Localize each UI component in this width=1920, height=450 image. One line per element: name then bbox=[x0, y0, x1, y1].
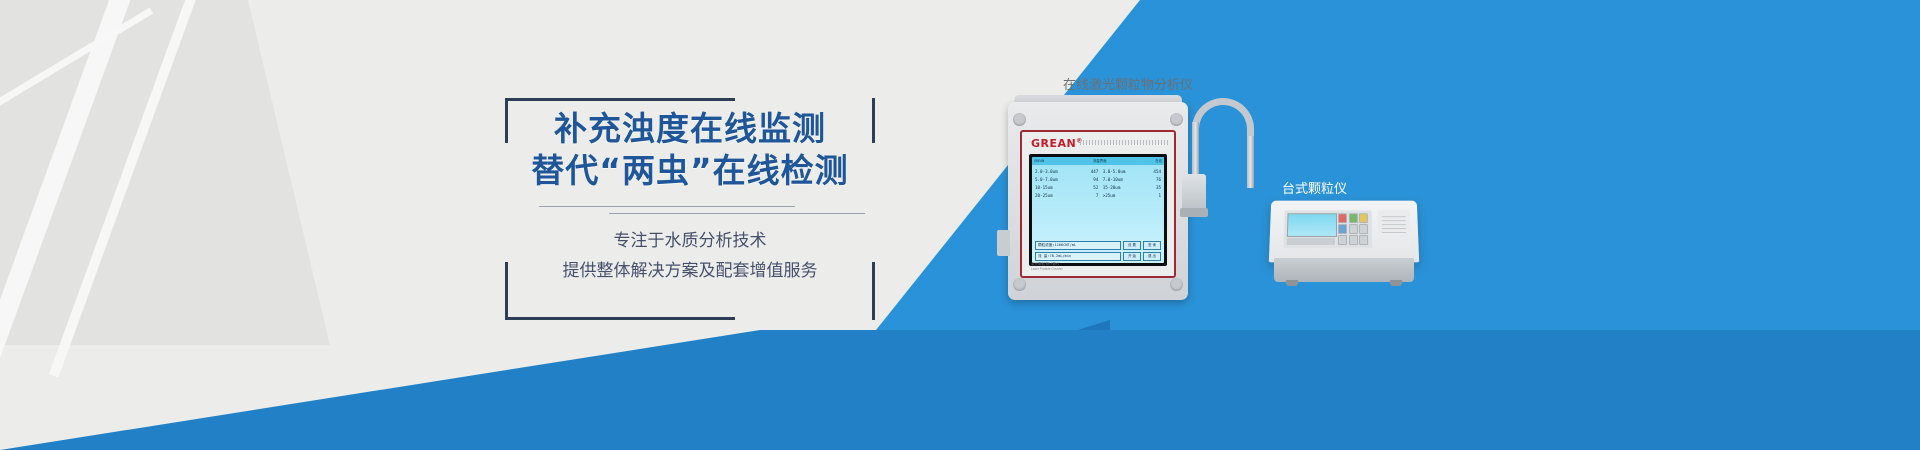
table-row: 2.0-3.0um 447 3.0-5.0um 454 bbox=[1035, 168, 1161, 176]
concentration-readout: 颗粒浓度:1166CNT/mL bbox=[1035, 241, 1121, 250]
benchtop-display bbox=[1287, 213, 1337, 237]
panel-hatch-decoration bbox=[1080, 140, 1168, 145]
exit-button[interactable]: 退 出 bbox=[1143, 252, 1161, 261]
keypad-key[interactable] bbox=[1359, 224, 1368, 234]
range-2: 3.0-5.0um bbox=[1099, 168, 1143, 176]
subtitle-line-2: 提供整体解决方案及配套增值服务 bbox=[505, 256, 875, 286]
divider-group bbox=[539, 206, 865, 220]
benchtop-vent bbox=[1382, 216, 1406, 236]
count-2: 1 bbox=[1143, 192, 1161, 200]
query-button[interactable]: 查 询 bbox=[1143, 241, 1161, 250]
brand-name: GREAN bbox=[1031, 137, 1076, 150]
headline-line-1: 补充浊度在线监测 bbox=[505, 108, 875, 150]
bracket-bottom-line bbox=[505, 317, 735, 320]
range-2: 15-20um bbox=[1099, 184, 1143, 192]
analyzer-hinge bbox=[1170, 278, 1183, 291]
analyzer-display-bezel: GREAN 测量界面 在线 2.0-3.0um 447 3.0-5.0um 45… bbox=[1029, 154, 1167, 266]
count-2: 76 bbox=[1143, 176, 1161, 184]
label-benchtop-counter: 台式颗粒仪 bbox=[1282, 178, 1347, 197]
display-title-center: 测量界面 bbox=[1093, 157, 1107, 165]
headline: 补充浊度在线监测 替代“两虫”在线检测 bbox=[505, 108, 875, 192]
count-2: 454 bbox=[1143, 168, 1161, 176]
benchtop-vent-panel bbox=[1378, 210, 1411, 248]
range-1: 5.0-7.0um bbox=[1035, 176, 1078, 184]
flow-readout: 流 量:78.2mL/min bbox=[1035, 252, 1121, 261]
display-footer: 颗粒浓度:1166CNT/mL 设 置 查 询 流 量:78.2mL/min 开… bbox=[1035, 239, 1161, 261]
bracket-top-line bbox=[505, 98, 735, 101]
tube-segment-right bbox=[1247, 136, 1254, 188]
product-online-analyzer: GREAN® GREAN 测量界面 在线 2.0-3.0um 447 3.0-5… bbox=[1008, 102, 1188, 300]
benchtop-foot bbox=[1390, 280, 1402, 286]
headline-block: 补充浊度在线监测 替代“两虫”在线检测 专注于水质分析技术 提供整体解决方案及配… bbox=[505, 98, 875, 320]
display-data-table: 2.0-3.0um 447 3.0-5.0um 454 5.0-7.0um 94… bbox=[1032, 165, 1164, 200]
range-2: >25um bbox=[1099, 192, 1143, 200]
count-1: 7 bbox=[1078, 192, 1098, 200]
headline-line-2: 替代“两虫”在线检测 bbox=[505, 150, 875, 192]
tube-arc bbox=[1192, 98, 1254, 144]
table-row: 10-15um 52 15-20um 35 bbox=[1035, 184, 1161, 192]
keypad-key[interactable] bbox=[1348, 213, 1357, 222]
benchtop-keypad[interactable] bbox=[1338, 213, 1368, 245]
benchtop-foot bbox=[1286, 280, 1298, 286]
display-title-right: 在线 bbox=[1155, 157, 1162, 165]
divider-line-upper bbox=[539, 206, 795, 207]
analyzer-hinge bbox=[1170, 113, 1183, 126]
count-1: 447 bbox=[1078, 168, 1098, 176]
table-row: 5.0-7.0um 94 7.0-10um 76 bbox=[1035, 176, 1161, 184]
range-1: 10-15um bbox=[1035, 184, 1078, 192]
footer-english: Laser Particle Counter bbox=[1031, 267, 1063, 272]
analyzer-hinge bbox=[1013, 113, 1026, 126]
analyzer-display: GREAN 测量界面 在线 2.0-3.0um 447 3.0-5.0um 45… bbox=[1032, 157, 1164, 263]
count-2: 35 bbox=[1143, 184, 1161, 192]
subtitle-line-1: 专注于水质分析技术 bbox=[505, 226, 875, 256]
benchtop-housing bbox=[1269, 201, 1419, 263]
brand-logo: GREAN® bbox=[1031, 137, 1083, 150]
range-1: 20-25um bbox=[1035, 192, 1078, 200]
subtitle: 专注于水质分析技术 提供整体解决方案及配套增值服务 bbox=[505, 226, 875, 286]
keypad-key[interactable] bbox=[1338, 213, 1347, 222]
range-2: 7.0-10um bbox=[1099, 176, 1143, 184]
settings-button[interactable]: 设 置 bbox=[1123, 241, 1141, 250]
promotional-banner: 补充浊度在线监测 替代“两虫”在线检测 专注于水质分析技术 提供整体解决方案及配… bbox=[0, 0, 1920, 450]
display-title-left: GREAN bbox=[1034, 157, 1044, 165]
range-1: 2.0-3.0um bbox=[1035, 168, 1078, 176]
keypad-key[interactable] bbox=[1359, 213, 1368, 222]
keypad-key[interactable] bbox=[1338, 235, 1347, 245]
benchtop-base bbox=[1274, 258, 1414, 282]
keypad-key[interactable] bbox=[1338, 224, 1347, 234]
display-footer-row: 流 量:78.2mL/min 开 始 退 出 bbox=[1035, 252, 1161, 261]
tube-end-cap bbox=[1180, 208, 1208, 217]
start-button[interactable]: 开 始 bbox=[1123, 252, 1141, 261]
count-1: 52 bbox=[1078, 184, 1098, 192]
product-benchtop-counter bbox=[1270, 200, 1418, 296]
keypad-key[interactable] bbox=[1349, 235, 1358, 245]
keypad-key[interactable] bbox=[1359, 235, 1368, 245]
benchtop-control-panel bbox=[1283, 210, 1372, 248]
table-row: 20-25um 7 >25um 1 bbox=[1035, 192, 1161, 200]
count-1: 94 bbox=[1078, 176, 1098, 184]
connector-tube bbox=[1186, 96, 1270, 206]
benchtop-label-strip bbox=[1287, 238, 1335, 245]
analyzer-hinge bbox=[1013, 278, 1026, 291]
display-title-bar: GREAN 测量界面 在线 bbox=[1032, 157, 1164, 165]
display-footer-row: 颗粒浓度:1166CNT/mL 设 置 查 询 bbox=[1035, 241, 1161, 250]
label-online-analyzer: 在线激光颗粒物分析仪 bbox=[1063, 74, 1193, 93]
divider-line-lower bbox=[609, 213, 865, 214]
analyzer-side-port bbox=[997, 230, 1010, 256]
analyzer-footer-text: 激光颗粒物计数仪 Laser Particle Counter bbox=[1031, 262, 1063, 272]
analyzer-front-panel: GREAN® GREAN 测量界面 在线 2.0-3.0um 447 3.0-5… bbox=[1020, 130, 1176, 278]
keypad-key[interactable] bbox=[1348, 224, 1357, 234]
